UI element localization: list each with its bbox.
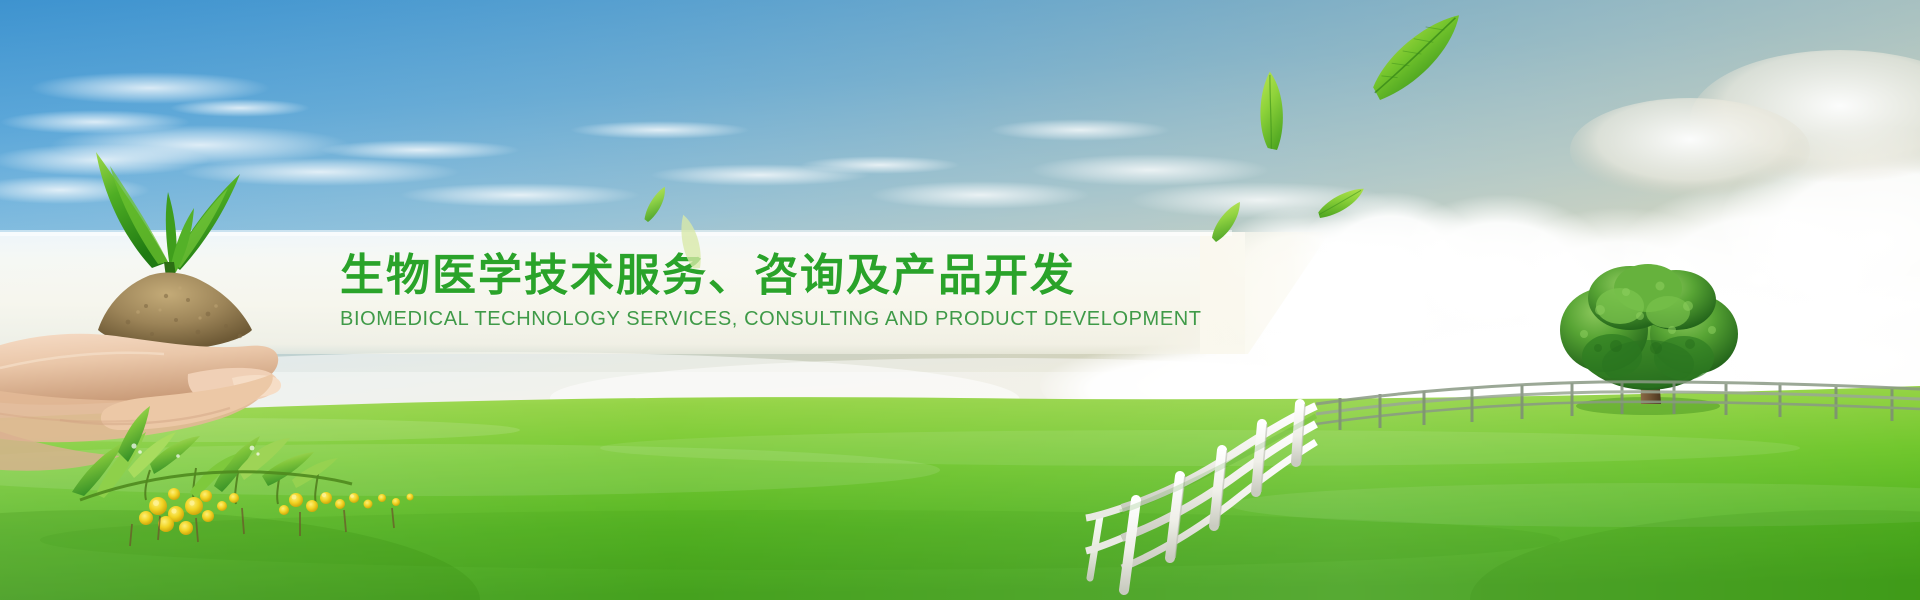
foreground-layer — [0, 0, 1920, 600]
tree-crown — [1560, 264, 1738, 390]
floating-leaf-large — [1369, 0, 1462, 116]
floating-leaf-band-2 — [1211, 197, 1241, 245]
hand — [0, 334, 281, 471]
fence — [1086, 382, 1920, 590]
floating-leaf-small — [1316, 177, 1365, 228]
floating-leaf-band — [666, 214, 713, 271]
floating-leaf-medium — [1243, 71, 1298, 153]
flower-blossoms — [139, 488, 414, 535]
floating-leaf-tiny — [644, 184, 666, 224]
hero-banner: 生物医学技术服务、咨询及产品开发 BIOMEDICAL TECHNOLOGY S… — [0, 0, 1920, 600]
